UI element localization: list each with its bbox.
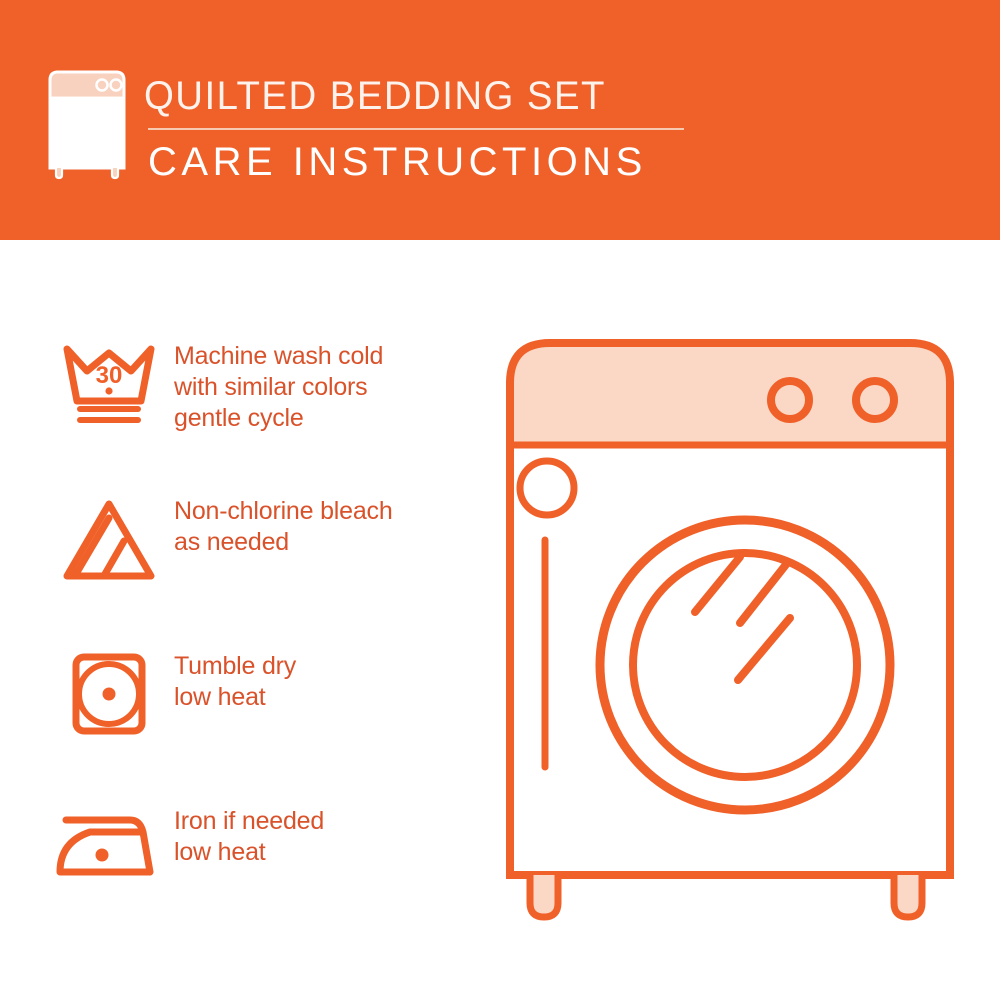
non-chlorine-bleach-symbol [44, 490, 174, 584]
page-subtitle: CARE INSTRUCTIONS [144, 138, 704, 186]
door-outer-ring [600, 520, 890, 810]
care-line: Tumble dry [174, 651, 296, 682]
iron-low-heat-symbol [44, 800, 174, 884]
washing-machine-illustration [490, 335, 970, 935]
care-label-wash: Machine wash cold with similar colors ge… [174, 335, 383, 434]
indicator-light [520, 461, 574, 515]
door-inner-ring [633, 553, 857, 777]
care-line: Machine wash cold [174, 341, 383, 372]
care-line: Non-chlorine bleach [174, 496, 393, 527]
care-row-bleach: Non-chlorine bleach as needed [44, 490, 474, 645]
care-line: low heat [174, 682, 296, 713]
header-banner: QUILTED BEDDING SET CARE INSTRUCTIONS [0, 0, 1000, 240]
care-label-iron: Iron if needed low heat [174, 800, 324, 868]
care-line: with similar colors [174, 372, 383, 403]
care-label-bleach: Non-chlorine bleach as needed [174, 490, 393, 558]
care-instruction-list: 30 Machine wash cold with similar colors… [44, 335, 474, 955]
care-line: Iron if needed [174, 806, 324, 837]
page-title: QUILTED BEDDING SET [144, 70, 682, 122]
control-panel [510, 343, 950, 445]
title-divider [148, 128, 684, 130]
leg-right [894, 875, 922, 917]
leg-left [530, 875, 558, 917]
washing-machine-icon [44, 68, 130, 180]
care-row-wash: 30 Machine wash cold with similar colors… [44, 335, 474, 490]
machine-wash-cold-symbol: 30 [44, 335, 174, 429]
care-line: as needed [174, 527, 393, 558]
care-row-dry: Tumble dry low heat [44, 645, 474, 800]
header-text-block: QUILTED BEDDING SET CARE INSTRUCTIONS [144, 70, 704, 186]
care-line: low heat [174, 837, 324, 868]
care-line: gentle cycle [174, 403, 383, 434]
care-label-dry: Tumble dry low heat [174, 645, 296, 713]
wash-temperature-value: 30 [96, 362, 123, 389]
content-area: 30 Machine wash cold with similar colors… [0, 240, 1000, 1000]
care-row-iron: Iron if needed low heat [44, 800, 474, 955]
tumble-dry-low-symbol [44, 645, 174, 739]
